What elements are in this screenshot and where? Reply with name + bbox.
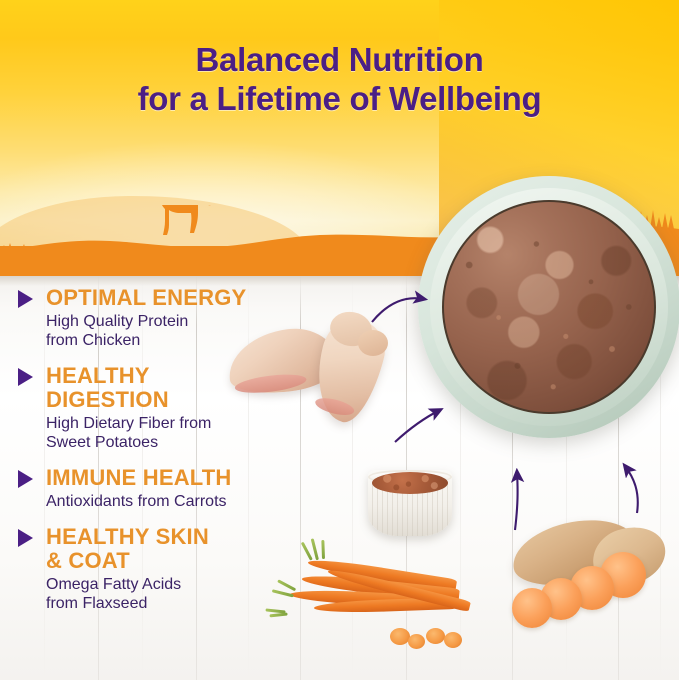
benefit-detail: High Dietary Fiber from Sweet Potatoes xyxy=(46,414,338,452)
triangle-right-icon xyxy=(18,368,33,386)
infographic-canvas: Balanced Nutrition for a Lifetime of Wel… xyxy=(0,0,679,680)
triangle-right-icon xyxy=(18,290,33,308)
benefit-heading: OPTIMAL ENERGY xyxy=(46,286,338,310)
flaxseed-fill xyxy=(372,472,448,494)
triangle-right-icon xyxy=(18,470,33,488)
flaxseed-ramekin xyxy=(368,470,452,536)
benefit-detail-line-2: from Flaxseed xyxy=(46,594,338,613)
pate-food-texture xyxy=(444,202,654,412)
benefit-heading: HEALTHY DIGESTION xyxy=(46,364,338,412)
benefit-detail-line-2: Sweet Potatoes xyxy=(46,433,338,452)
page-title: Balanced Nutrition for a Lifetime of Wel… xyxy=(0,40,679,118)
benefit-heading-line-2: & COAT xyxy=(46,549,338,573)
sweet-potato-slice xyxy=(512,588,552,628)
headline-line-2: for a Lifetime of Wellbeing xyxy=(0,79,679,118)
benefit-detail-line-1: High Dietary Fiber from xyxy=(46,414,338,433)
bowl-interior xyxy=(442,200,656,414)
benefit-detail: High Quality Protein from Chicken xyxy=(46,312,338,350)
benefit-healthy-skin-coat: HEALTHY SKIN & COAT Omega Fatty Acids fr… xyxy=(18,525,338,613)
benefit-optimal-energy: OPTIMAL ENERGY High Quality Protein from… xyxy=(18,286,338,350)
benefit-heading-line-1: HEALTHY SKIN xyxy=(46,525,338,549)
benefits-list: OPTIMAL ENERGY High Quality Protein from… xyxy=(18,286,338,627)
headline-line-1: Balanced Nutrition xyxy=(0,40,679,79)
benefit-heading: IMMUNE HEALTH xyxy=(46,466,338,490)
benefit-detail: Omega Fatty Acids from Flaxseed xyxy=(46,575,338,613)
benefit-immune-health: IMMUNE HEALTH Antioxidants from Carrots xyxy=(18,466,338,511)
benefit-detail-line-1: Antioxidants from Carrots xyxy=(46,492,338,511)
benefit-heading-line-1: HEALTHY xyxy=(46,364,338,388)
benefit-detail-line-1: High Quality Protein xyxy=(46,312,338,331)
benefit-heading: HEALTHY SKIN & COAT xyxy=(46,525,338,573)
drumstick-joint-secondary xyxy=(358,330,388,356)
benefit-heading-line-2: DIGESTION xyxy=(46,388,338,412)
benefit-detail-line-1: Omega Fatty Acids xyxy=(46,575,338,594)
pate-specks xyxy=(444,202,654,412)
benefit-detail-line-2: from Chicken xyxy=(46,331,338,350)
triangle-right-icon xyxy=(18,529,33,547)
benefit-healthy-digestion: HEALTHY DIGESTION High Dietary Fiber fro… xyxy=(18,364,338,452)
dog-food-bowl xyxy=(418,176,679,438)
benefit-detail: Antioxidants from Carrots xyxy=(46,492,338,511)
